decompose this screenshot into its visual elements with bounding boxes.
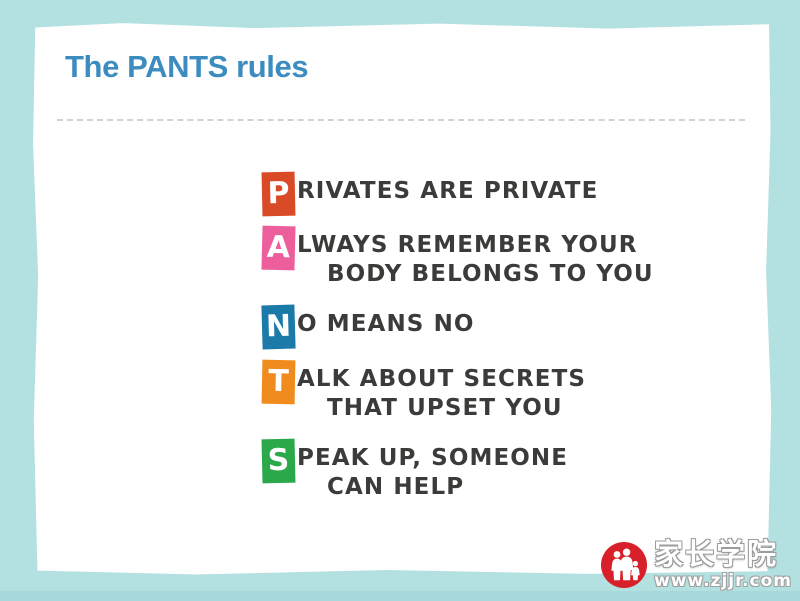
rule-text-p: rivates are private xyxy=(297,172,732,206)
watermark-url: www.zjjr.com xyxy=(654,573,792,590)
watermark-text: 家长学院 www.zjjr.com xyxy=(654,540,792,590)
watermark: 家长学院 www.zjjr.com xyxy=(601,535,792,595)
list-item: P rivates are private xyxy=(262,172,732,206)
letter-tile-n: N xyxy=(261,305,295,350)
page-title: The PANTS rules xyxy=(65,49,308,85)
list-item: N o means no xyxy=(262,305,732,339)
rule-line-2: body belongs to you xyxy=(297,260,732,289)
letter-tile-a: A xyxy=(261,226,295,271)
rule-line-1: rivates are private xyxy=(297,177,732,206)
list-item: A lways remember your body belongs to yo… xyxy=(262,226,732,289)
title-divider xyxy=(57,119,745,121)
rule-text-a: lways remember your body belongs to you xyxy=(297,226,732,289)
rule-line-1: lways remember your xyxy=(297,231,732,260)
family-silhouette-icon xyxy=(601,542,647,588)
letter-tile-s: S xyxy=(262,439,296,484)
list-item: S peak up, someone can help xyxy=(262,439,732,502)
letter-tile-p: P xyxy=(262,172,296,217)
rule-text-s: peak up, someone can help xyxy=(297,439,732,502)
list-item: T alk about secrets that upset you xyxy=(262,360,732,423)
rule-line-2: that upset you xyxy=(297,394,732,423)
slide-canvas: The PANTS rules P rivates are private A … xyxy=(0,0,800,601)
rule-text-t: alk about secrets that upset you xyxy=(297,360,732,423)
rule-line-1: peak up, someone xyxy=(297,444,732,473)
rule-line-1: o means no xyxy=(297,310,732,339)
rule-line-1: alk about secrets xyxy=(297,365,732,394)
rule-text-n: o means no xyxy=(297,305,732,339)
rule-line-2: can help xyxy=(297,473,732,502)
letter-tile-t: T xyxy=(262,360,296,405)
pants-rules-list: P rivates are private A lways remember y… xyxy=(262,172,732,502)
watermark-brand: 家长学院 xyxy=(654,540,792,569)
